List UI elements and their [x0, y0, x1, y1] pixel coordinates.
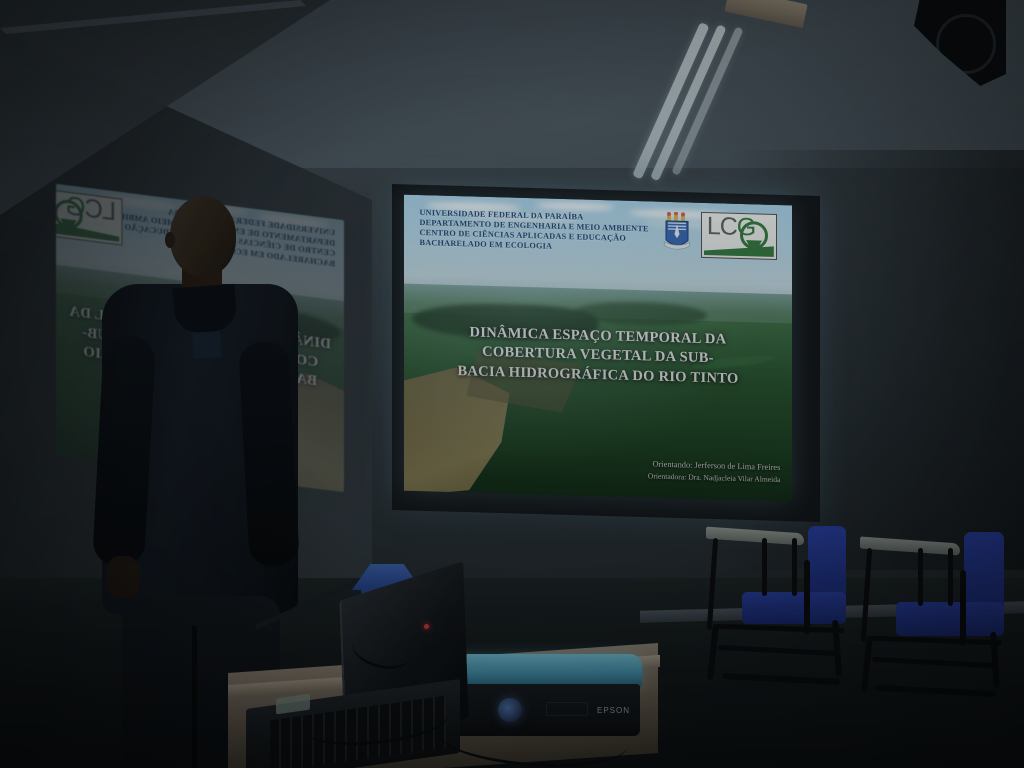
chair-frame — [792, 538, 797, 596]
presentation-room-photo: UNIVERSIDADE FEDERAL DA PARAÍBA DEPARTAM… — [0, 0, 1024, 768]
presenter-leg-separation — [192, 626, 197, 768]
chair-base-rail — [876, 685, 996, 697]
slide-credits: Orientando: Jerferson de Lima Freires Or… — [648, 458, 780, 485]
lcg-logo: LCG — [701, 212, 777, 260]
power-led-icon — [424, 624, 429, 629]
lcg-logo-bar — [704, 244, 774, 257]
chair-frame — [870, 636, 1002, 646]
chair-frame — [718, 645, 838, 656]
desk-chair-left — [706, 520, 866, 710]
lcg-lc-text: LC — [707, 213, 737, 242]
chair-frame — [804, 560, 810, 634]
ufpb-crest-icon — [662, 212, 692, 255]
slide-title: DINÂMICA ESPAÇO TEMPORAL DA COBERTURA VE… — [416, 322, 781, 390]
desk-chair-right — [860, 528, 1024, 724]
slide-header-block: UNIVERSIDADE FEDERAL DA PARAÍBA DEPARTAM… — [420, 208, 676, 255]
projector-top-shell — [452, 654, 642, 688]
chair-writing-tablet — [706, 527, 804, 546]
chair-writing-tablet — [860, 537, 960, 556]
presenter-hand — [106, 556, 140, 598]
chair-frame — [762, 538, 767, 596]
projector-brand-label: EPSON — [597, 706, 630, 715]
chair-frame — [948, 548, 953, 606]
chair-frame — [861, 548, 873, 642]
chair-frame — [707, 538, 718, 630]
presenter-ear — [165, 232, 175, 248]
map-pin-icon — [740, 221, 768, 250]
chair-frame — [918, 548, 923, 606]
chair-frame — [716, 624, 844, 633]
chair-frame — [872, 657, 996, 668]
projected-slide: UNIVERSIDADE FEDERAL DA PARAÍBA DEPARTAM… — [404, 195, 792, 502]
chair-leg — [861, 636, 873, 692]
chair-seat — [742, 592, 846, 624]
chair-seat — [896, 602, 1004, 636]
chair-frame — [960, 570, 966, 646]
chair-leg — [707, 624, 719, 680]
chair-base-rail — [722, 673, 840, 685]
presenter-head — [170, 196, 236, 276]
